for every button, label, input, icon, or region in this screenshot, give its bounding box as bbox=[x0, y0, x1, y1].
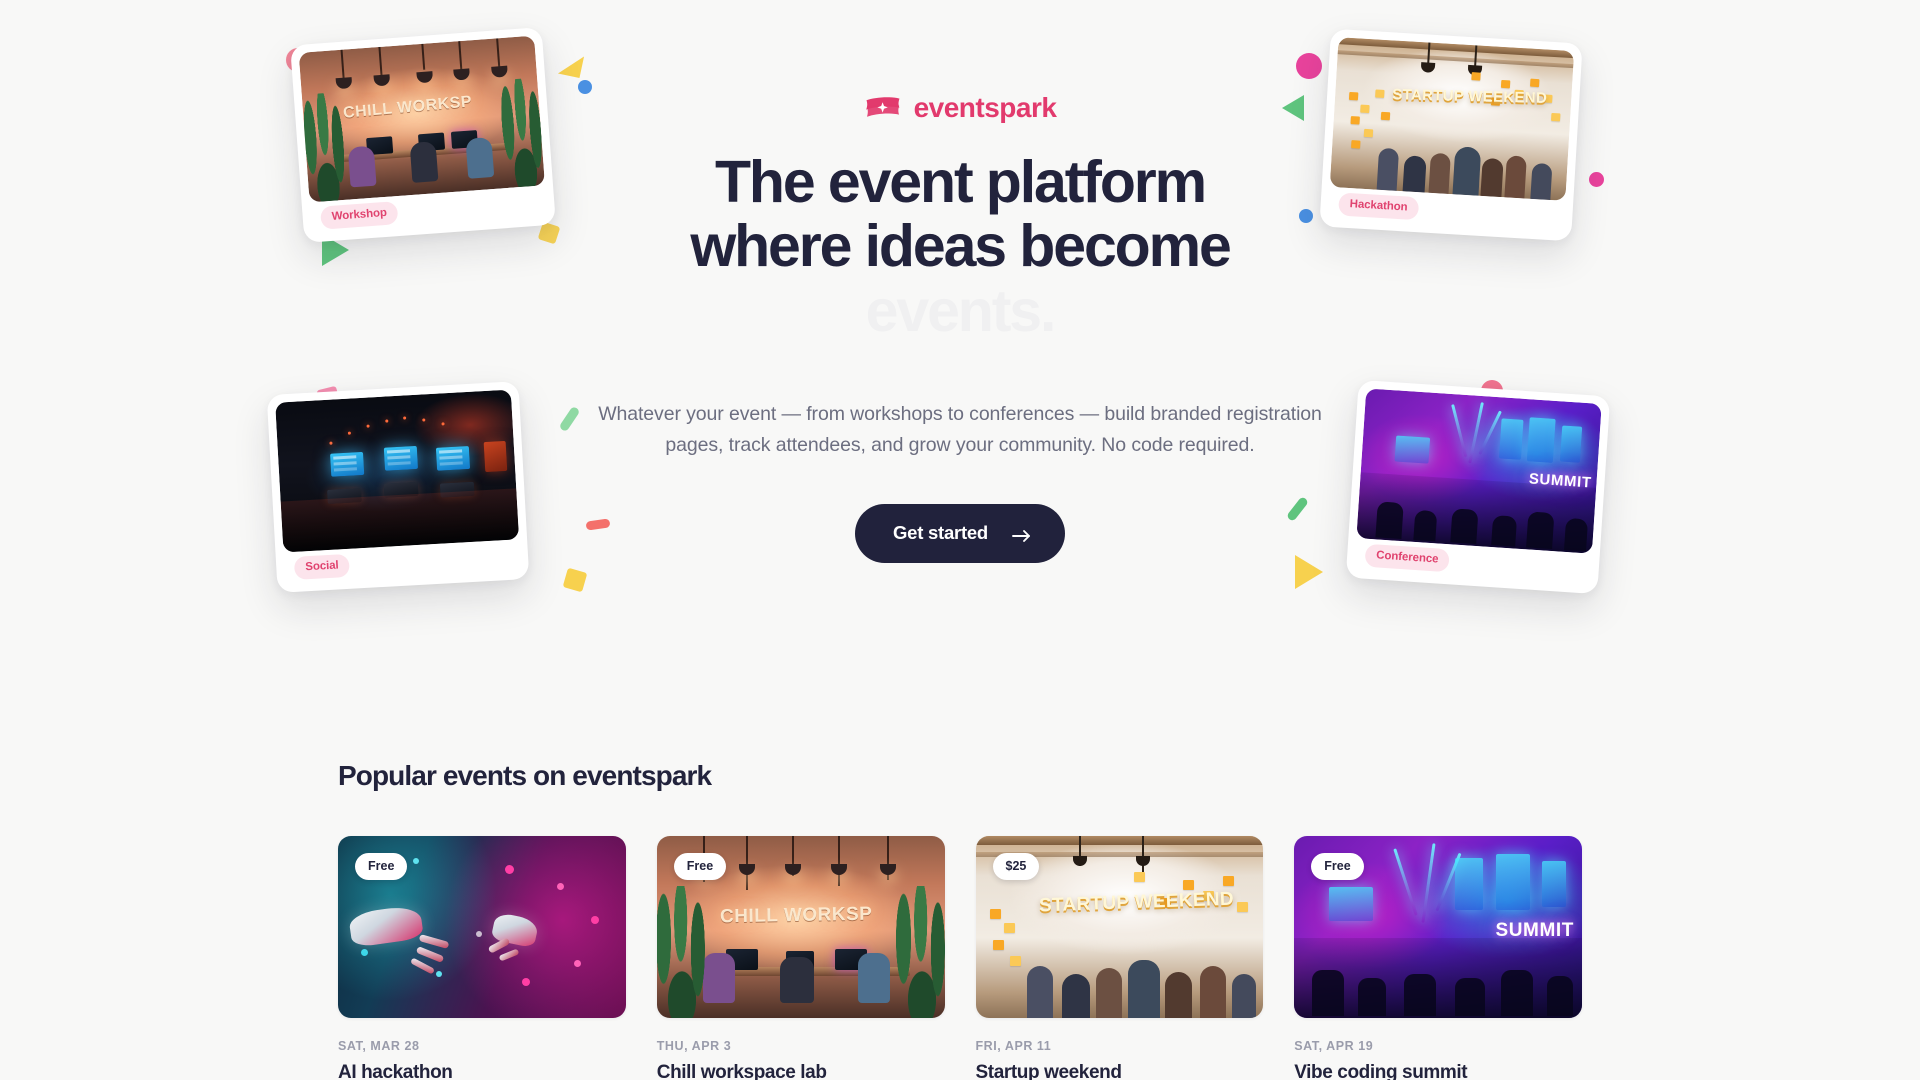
headline-line-2: where ideas become bbox=[690, 213, 1229, 279]
decor-bar-green-lower-left bbox=[558, 406, 580, 433]
hero-content: eventspark The event platform where idea… bbox=[580, 92, 1340, 563]
decor-circle-magenta-right bbox=[1296, 53, 1322, 79]
event-title: Chill workspace lab bbox=[657, 1062, 945, 1080]
hero-subheading: Whatever your event — from workshops to … bbox=[580, 399, 1340, 461]
event-card[interactable]: Free CHILL WORKSP bbox=[657, 836, 945, 1080]
photo-sign-workshop-thumb: CHILL WORKSP bbox=[720, 904, 873, 929]
showcase-photo-hackathon: STARTUP WEEKEND bbox=[1330, 37, 1574, 201]
event-title: AI hackathon bbox=[338, 1062, 626, 1080]
event-title: Vibe coding summit bbox=[1294, 1062, 1582, 1080]
popular-events-section: Popular events on eventspark Free bbox=[0, 760, 1920, 1080]
page-title: The event platform where ideas become ev… bbox=[580, 150, 1340, 343]
hero-section: CHILL WORKSP Workshop bbox=[0, 0, 1920, 660]
event-thumbnail[interactable]: Free SUMMIT bbox=[1294, 836, 1582, 1018]
showcase-photo-workshop: CHILL WORKSP bbox=[299, 36, 545, 203]
decor-triangle-yellow-left bbox=[558, 52, 584, 78]
headline-line-3: events. bbox=[866, 278, 1055, 344]
event-date: SAT, MAR 28 bbox=[338, 1039, 626, 1053]
event-date: FRI, APR 11 bbox=[976, 1039, 1264, 1053]
event-date: SAT, APR 19 bbox=[1294, 1039, 1582, 1053]
price-badge: Free bbox=[1311, 853, 1363, 880]
showcase-photo-social bbox=[275, 390, 519, 553]
decor-circle-magenta-right-edge bbox=[1589, 172, 1604, 187]
showcase-badge-conference: Conference bbox=[1364, 544, 1450, 573]
photo-sign-hackathon-thumb: STARTUP WEEKEND bbox=[1039, 891, 1234, 916]
event-grid: Free bbox=[338, 836, 1582, 1080]
photo-sign-workshop: CHILL WORKSP bbox=[343, 93, 473, 123]
ticket-sparkle-icon bbox=[864, 95, 902, 121]
landing-page: CHILL WORKSP Workshop bbox=[0, 0, 1920, 1080]
photo-sign-hackathon: STARTUP WEEKEND bbox=[1392, 88, 1547, 106]
popular-events-title: Popular events on eventspark bbox=[338, 760, 1582, 792]
headline-line-1: The event platform bbox=[715, 149, 1205, 215]
event-date: THU, APR 3 bbox=[657, 1039, 945, 1053]
arrow-right-icon bbox=[1012, 526, 1031, 540]
showcase-card-conference[interactable]: SUMMIT Conference bbox=[1346, 380, 1611, 594]
price-badge: Free bbox=[355, 853, 407, 880]
price-badge: Free bbox=[674, 853, 726, 880]
event-thumbnail[interactable]: Free bbox=[338, 836, 626, 1018]
event-card[interactable]: Free bbox=[338, 836, 626, 1080]
showcase-badge-social: Social bbox=[294, 554, 350, 580]
price-badge: $25 bbox=[993, 853, 1040, 880]
get-started-label: Get started bbox=[893, 522, 988, 544]
event-thumbnail[interactable]: Free CHILL WORKSP bbox=[657, 836, 945, 1018]
showcase-card-hackathon[interactable]: STARTUP WEEKEND Hackathon bbox=[1319, 29, 1582, 242]
event-thumbnail[interactable]: $25 bbox=[976, 836, 1264, 1018]
showcase-card-workshop[interactable]: CHILL WORKSP Workshop bbox=[290, 27, 556, 243]
brand-logo[interactable]: eventspark bbox=[580, 92, 1340, 124]
brand-name: eventspark bbox=[914, 92, 1057, 124]
get-started-button[interactable]: Get started bbox=[855, 504, 1065, 563]
event-title: Startup weekend bbox=[976, 1062, 1264, 1080]
showcase-badge-workshop: Workshop bbox=[320, 201, 399, 230]
showcase-photo-conference: SUMMIT bbox=[1356, 388, 1601, 553]
decor-square-yellow-lower-left bbox=[563, 568, 588, 593]
showcase-card-social[interactable]: Social bbox=[267, 381, 530, 593]
event-card[interactable]: Free SUMMIT bbox=[1294, 836, 1582, 1080]
showcase-badge-hackathon: Hackathon bbox=[1338, 192, 1419, 220]
event-card[interactable]: $25 bbox=[976, 836, 1264, 1080]
